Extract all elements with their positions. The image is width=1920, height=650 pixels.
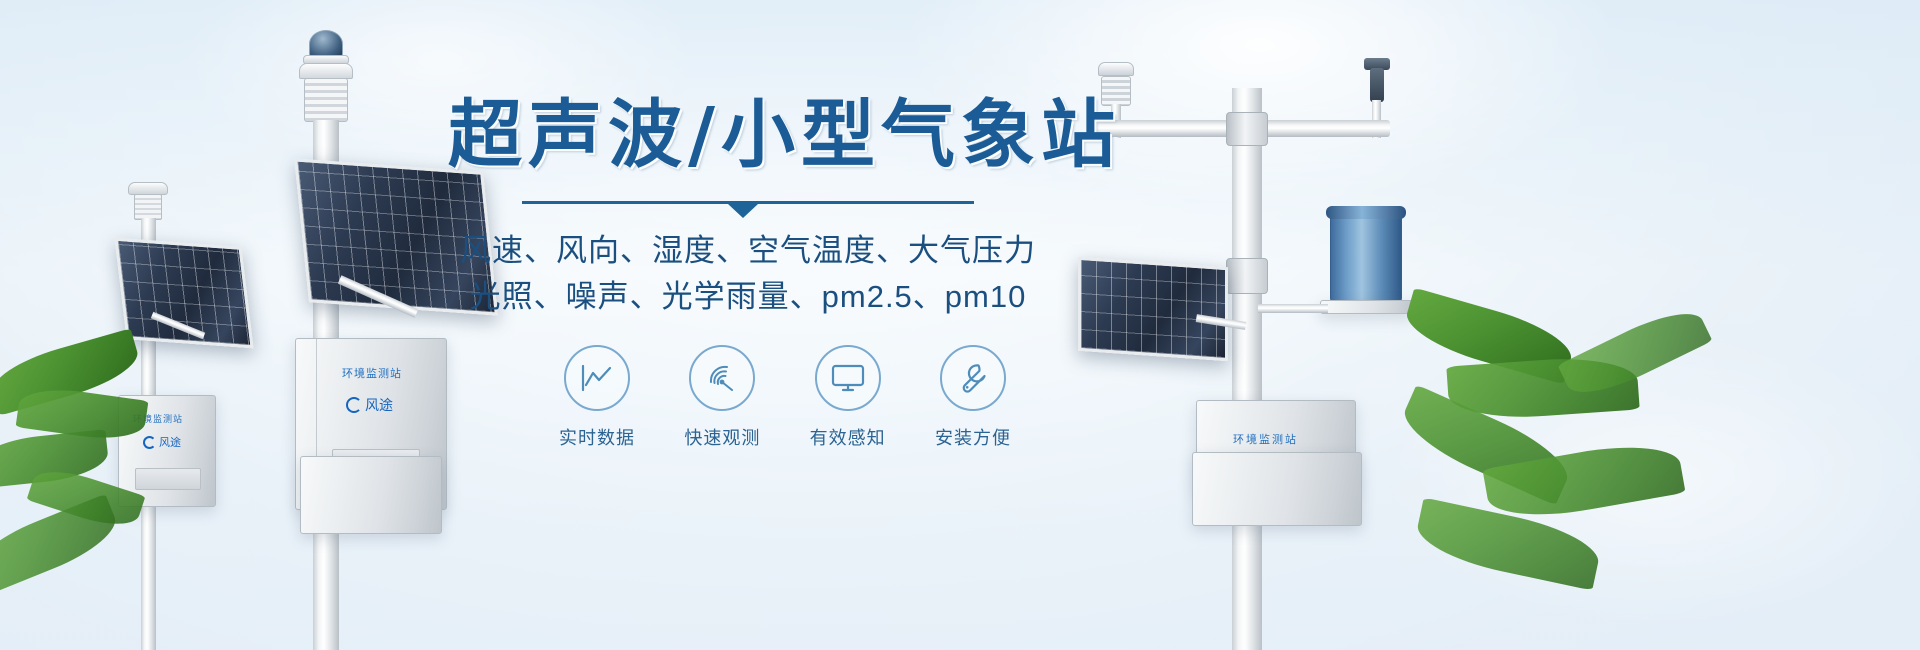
brand-logo-left: 风途 [143, 434, 181, 450]
rain-gauge-rim [1326, 206, 1406, 219]
brand-mark-icon [143, 436, 156, 449]
equipment-cabinet-center-lower [300, 456, 442, 534]
radiation-shield-center [304, 78, 348, 122]
rain-gauge-right [1330, 212, 1402, 304]
subtitle-block: 风速、风向、湿度、空气温度、大气压力 光照、噪声、光学雨量、pm2.5、pm10 [448, 228, 1048, 321]
solar-panel-right [1078, 257, 1228, 361]
rain-gauge-support-arm [1258, 304, 1328, 313]
feature-label: 快速观测 [670, 424, 774, 450]
sensor-body-left [134, 194, 162, 220]
line-chart-icon [580, 363, 614, 393]
leaf-shape [1412, 497, 1604, 590]
brand-name-left: 风途 [159, 434, 181, 450]
rain-gauge-base-shelf [1320, 300, 1414, 314]
leaf-shape [0, 494, 124, 597]
brand-mark-icon [346, 397, 362, 413]
optical-rain-sensor-dome [309, 30, 343, 58]
ultrasonic-wind-sensor-center [299, 63, 353, 79]
cabinet-label-right: 环境监测站 [1233, 431, 1298, 447]
leaf-shape [1558, 299, 1713, 406]
feature-item-fast-observation[interactable]: 快速观测 [670, 345, 774, 450]
equipment-cabinet-left: 环境监测站 风途 [118, 395, 216, 507]
ultrasonic-anemometer-right [1098, 62, 1134, 76]
mast-collar-lower [1226, 258, 1268, 294]
brand-logo-center: 风途 [346, 395, 393, 415]
feature-item-effective-sensing[interactable]: 有效感知 [796, 345, 900, 450]
brand-name-center: 风途 [365, 395, 393, 415]
wind-vane-body [1370, 68, 1384, 102]
feature-item-easy-install[interactable]: 安装方便 [921, 345, 1025, 450]
feature-label: 安装方便 [921, 424, 1025, 450]
feature-list: 实时数据 快速观测 有效感知 [545, 345, 1025, 450]
cabinet-vent-left [135, 468, 201, 490]
leaf-shape [1400, 288, 1578, 385]
wrench-icon [956, 362, 990, 394]
feature-icon-circle [689, 345, 755, 411]
cloud-decoration [1380, 330, 1920, 630]
subtitle-line-1: 风速、风向、湿度、空气温度、大气压力 [448, 228, 1048, 275]
hero-text-block: 超声波/小型气象站 风速、风向、湿度、空气温度、大气压力 光照、噪声、光学雨量、… [448, 96, 1048, 321]
leaf-shape [0, 429, 110, 489]
feature-label: 有效感知 [796, 424, 900, 450]
leaf-shape [1446, 353, 1639, 422]
feature-icon-circle [940, 345, 1006, 411]
equipment-cabinet-right-lower [1192, 452, 1362, 526]
feature-item-realtime-data[interactable]: 实时数据 [545, 345, 649, 450]
product-hero-banner: 环境监测站 风途 环境监测站 风途 [0, 0, 1920, 650]
feature-icon-circle [564, 345, 630, 411]
page-title: 超声波/小型气象站 [448, 96, 1048, 176]
feature-icon-circle [815, 345, 881, 411]
feature-label: 实时数据 [545, 424, 649, 450]
chevron-down-icon [728, 204, 758, 218]
mast-pole-right [1232, 88, 1262, 650]
subtitle-line-2: 光照、噪声、光学雨量、pm2.5、pm10 [448, 274, 1048, 321]
monitor-screen-icon [830, 363, 866, 393]
radar-signal-icon [705, 362, 739, 394]
mast-collar-upper [1226, 112, 1268, 146]
title-divider [522, 198, 974, 216]
leaf-shape [1482, 435, 1685, 526]
leaf-shape [1395, 385, 1578, 506]
cabinet-label-left: 环境监测站 [133, 412, 183, 425]
cabinet-label-center: 环境监测站 [342, 365, 402, 381]
